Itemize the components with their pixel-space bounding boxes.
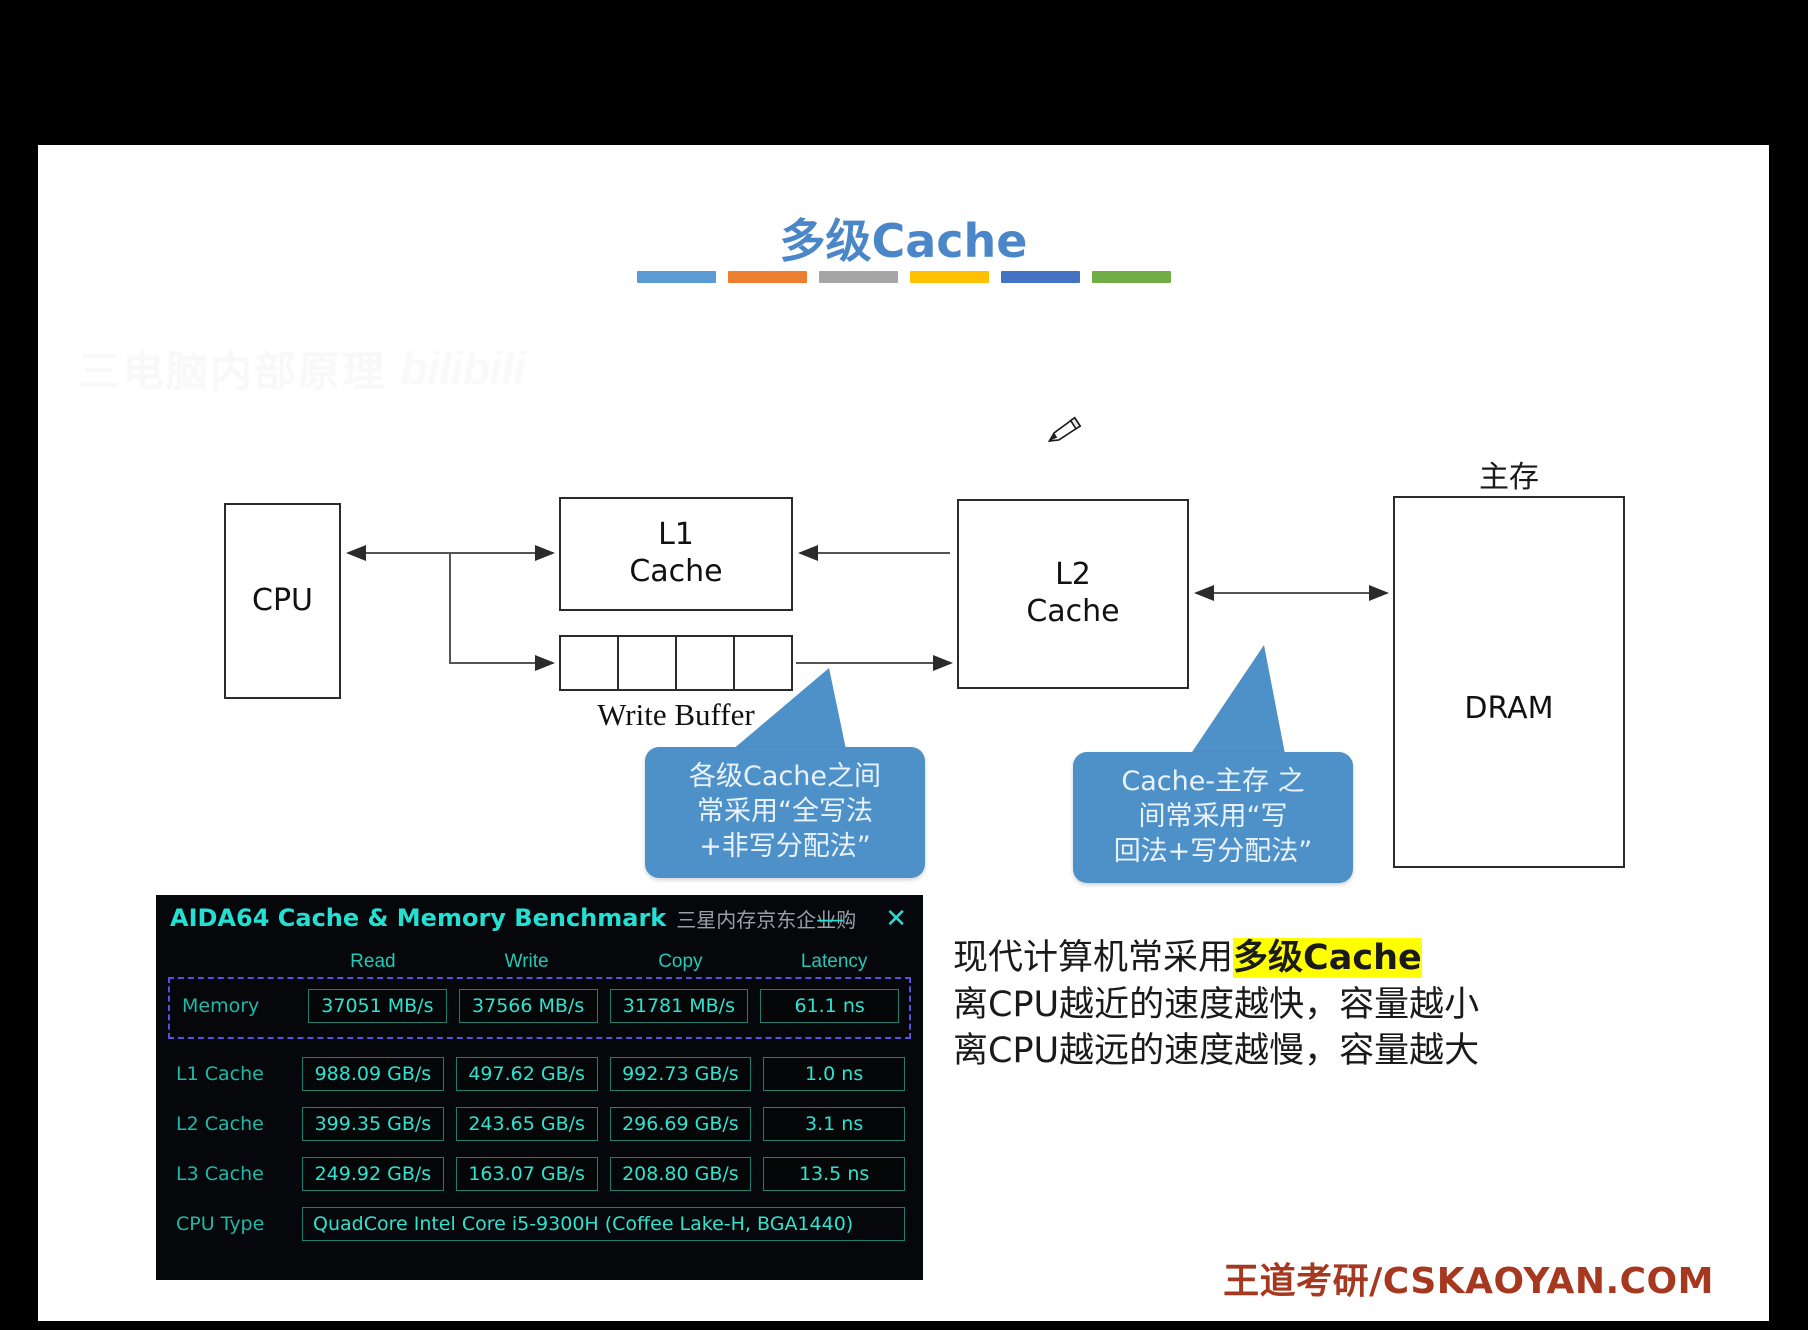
row-label-memory: Memory [174,995,302,1017]
table-row-memory: Memory 37051 MB/s 37566 MB/s 31781 MB/s … [174,981,905,1031]
l1-write-value: 497.62 GB/s [456,1057,598,1091]
table-row-l3-cache: L3 Cache 249.92 GB/s 163.07 GB/s 208.80 … [168,1149,911,1199]
pencil-cursor-icon [1045,410,1085,450]
l3-latency-value: 13.5 ns [763,1157,905,1191]
dram-label: DRAM [1464,691,1553,728]
bar-gray [819,271,898,283]
write-buffer-cell [735,637,791,689]
l1-label-line2: Cache [629,554,722,589]
cpu-label: CPU [252,583,313,620]
main-memory-label: 主存 [1393,452,1625,496]
notes-line-2: 离CPU越近的速度越快，容量越小 [953,982,1479,1029]
notes-highlight-term: 多级Cache [1233,938,1422,978]
table-row-l2-cache: L2 Cache 399.35 GB/s 243.65 GB/s 296.69 … [168,1099,911,1149]
row-label-l1-cache: L1 Cache [168,1063,296,1085]
write-buffer-cell [619,637,677,689]
column-header-read: Read [296,951,450,973]
diagram-box-l1-cache: L1 Cache [559,497,793,611]
callout-cache-to-cache: 各级Cache之间 常采用“全写法 +非写分配法” [645,747,925,878]
callout-1-line2: 常采用“全写法 [659,794,911,829]
l2-read-value: 399.35 GB/s [302,1107,444,1141]
table-row-cpu-type: CPU Type QuadCore Intel Core i5-9300H (C… [168,1199,911,1249]
callout-1-line1: 各级Cache之间 [659,759,911,794]
row-label-l3-cache: L3 Cache [168,1163,296,1185]
watermark-channel-text: 三电脑内部原理 [78,338,386,399]
memory-copy-value: 31781 MB/s [610,989,749,1023]
l2-write-value: 243.65 GB/s [456,1107,598,1141]
memory-write-value: 37566 MB/s [459,989,598,1023]
aida64-titlebar[interactable]: AIDA64 Cache & Memory Benchmark 三星内存京东企业… [156,895,923,941]
write-buffer-cell [677,637,735,689]
notes-line-1: 现代计算机常采用多级Cache [953,935,1479,982]
write-buffer-cells [559,635,793,691]
memory-read-value: 37051 MB/s [308,989,447,1023]
l3-copy-value: 208.80 GB/s [610,1157,752,1191]
write-buffer-label: Write Buffer [559,697,793,733]
callout-2-line1: Cache-主存 之 [1087,764,1339,799]
l1-latency-value: 1.0 ns [763,1057,905,1091]
bar-blue [637,271,716,283]
callout-2-line3: 回法+写分配法” [1087,834,1339,869]
diagram-box-l2-cache: L2 Cache [957,499,1189,689]
l1-label: L1 Cache [629,517,722,590]
footer-watermark: 王道考研/CSKAOYAN.COM [1223,1252,1714,1304]
bilibili-logo-icon: bilibili [400,341,525,395]
slide-canvas: 三电脑内部原理 bilibili 多级Cache [38,145,1769,1321]
close-icon[interactable]: ✕ [885,905,907,931]
l3-read-value: 249.92 GB/s [302,1157,444,1191]
diagram-box-cpu: CPU [224,503,341,699]
l2-copy-value: 296.69 GB/s [610,1107,752,1141]
row-label-l2-cache: L2 Cache [168,1113,296,1135]
bar-green [1092,271,1171,283]
l1-copy-value: 992.73 GB/s [610,1057,752,1091]
bar-navy [1001,271,1080,283]
memory-latency-value: 61.1 ns [760,989,899,1023]
l3-write-value: 163.07 GB/s [456,1157,598,1191]
page-title: 多级Cache [38,205,1769,271]
notes-line-3: 离CPU越远的速度越慢，容量越大 [953,1028,1479,1075]
write-buffer-cell [561,637,619,689]
l2-latency-value: 3.1 ns [763,1107,905,1141]
l1-label-line1: L1 [658,517,694,552]
memory-row-highlight-group: Memory 37051 MB/s 37566 MB/s 31781 MB/s … [168,977,911,1039]
diagram-box-dram: DRAM [1393,496,1625,868]
window-controls: — ✕ [817,895,907,941]
bar-yellow [910,271,989,283]
column-header-copy: Copy [604,951,758,973]
screen: 三电脑内部原理 bilibili 多级Cache [0,0,1808,1330]
notes-block: 现代计算机常采用多级Cache 离CPU越近的速度越快，容量越小 离CPU越远的… [953,935,1479,1075]
table-header-row: Read Write Copy Latency [168,947,911,977]
callout-1-line3: +非写分配法” [659,829,911,864]
bilibili-watermark: 三电脑内部原理 bilibili [78,333,463,403]
minimize-icon[interactable]: — [817,905,843,931]
l1-read-value: 988.09 GB/s [302,1057,444,1091]
aida64-window[interactable]: AIDA64 Cache & Memory Benchmark 三星内存京东企业… [156,895,923,1280]
aida64-benchmark-table: Read Write Copy Latency Memory 37051 MB/… [156,941,923,1249]
column-header-write: Write [450,951,604,973]
row-label-cpu-type: CPU Type [168,1213,296,1235]
column-header-latency: Latency [757,951,911,973]
aida64-window-title: AIDA64 Cache & Memory Benchmark [170,904,666,932]
callout-cache-to-memory: Cache-主存 之 间常采用“写 回法+写分配法” [1073,752,1353,883]
l2-label: L2 Cache [1026,557,1119,630]
write-buffer-group: Write Buffer [559,635,793,733]
l2-label-line2: Cache [1026,594,1119,629]
notes-line-1-prefix: 现代计算机常采用 [953,938,1233,978]
cpu-type-value: QuadCore Intel Core i5-9300H (Coffee Lak… [302,1207,905,1241]
callout-2-line2: 间常采用“写 [1087,799,1339,834]
l2-label-line1: L2 [1055,557,1091,592]
table-row-l1-cache: L1 Cache 988.09 GB/s 497.62 GB/s 992.73 … [168,1049,911,1099]
title-decoration-bars [38,271,1769,283]
bar-orange [728,271,807,283]
